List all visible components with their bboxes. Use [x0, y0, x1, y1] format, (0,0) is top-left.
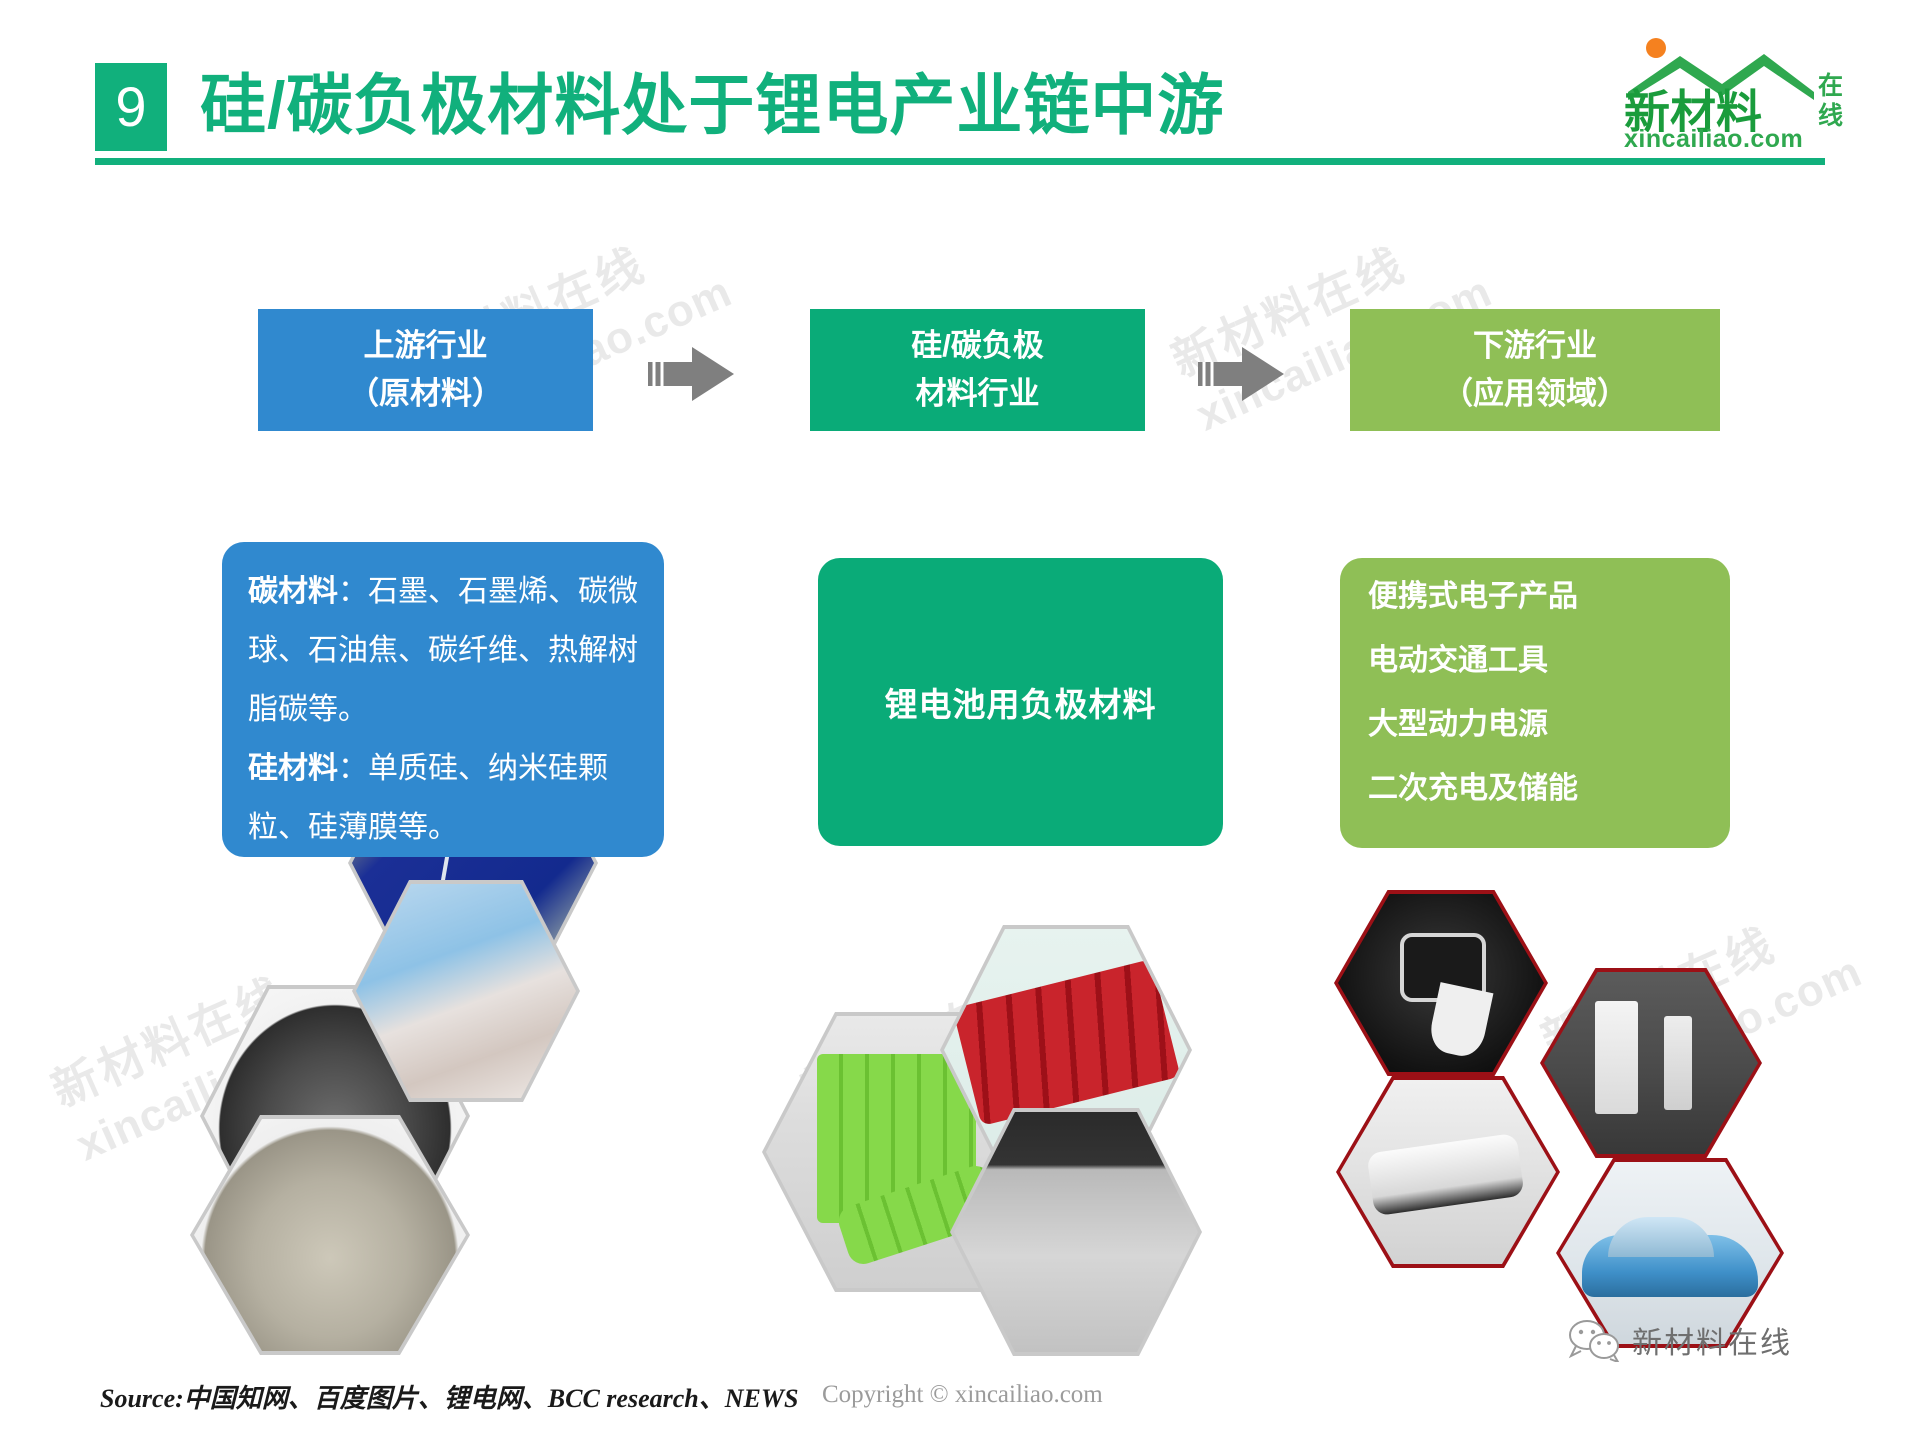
svg-text:线: 线	[1818, 101, 1843, 130]
copyright-note: Copyright © xincailiao.com	[822, 1381, 1103, 1409]
flow-down-line2: （应用领域）	[1442, 370, 1628, 418]
flow-box-downstream: 下游行业 （应用领域）	[1350, 309, 1720, 431]
application-item-3: 大型动力电源	[1368, 710, 1730, 740]
flow-mid-line1: 硅/碳负极	[911, 322, 1044, 370]
arrow-upstream-to-mid	[648, 345, 734, 403]
application-item-4: 二次充电及储能	[1368, 774, 1730, 804]
silicon-materials-label: 硅材料	[248, 752, 338, 785]
carbon-materials-label: 碳材料	[248, 575, 338, 608]
flow-mid-line2: 材料行业	[916, 370, 1040, 418]
brand-logo: 新材料 在 线 xincailiao.com	[1618, 36, 1868, 154]
slide-header: 9 硅/碳负极材料处于锂电产业链中游 新材料 在 线 xincailiao.co…	[0, 0, 1920, 190]
application-item-2: 电动交通工具	[1368, 646, 1730, 676]
photo-ev-charging-station	[1540, 968, 1762, 1158]
xincailiao-logo-icon: 新材料 在 线	[1618, 36, 1868, 132]
wechat-label: 新材料在线	[1632, 1318, 1792, 1362]
arrow-mid-to-downstream	[1198, 345, 1284, 403]
photo-grey-silicon-powder	[190, 1115, 470, 1355]
svg-text:在: 在	[1818, 72, 1843, 100]
flow-upstream-line2: （原材料）	[348, 370, 503, 418]
photo-smart-watch	[1334, 890, 1548, 1076]
header-divider	[95, 158, 1825, 165]
panel-upstream-materials: 碳材料：石墨、石墨烯、碳微球、石油焦、碳纤维、热解树脂碳等。 硅材料：单质硅、纳…	[222, 542, 664, 857]
page-title: 硅/碳负极材料处于锂电产业链中游	[200, 58, 1224, 152]
panel-midstream-product: 锂电池用负极材料	[818, 558, 1223, 846]
application-item-1: 便携式电子产品	[1368, 582, 1730, 612]
carbon-materials-paragraph: 碳材料：石墨、石墨烯、碳微球、石油焦、碳纤维、热解树脂碳等。	[248, 562, 640, 739]
wechat-icon	[1568, 1318, 1620, 1362]
slide-canvas: 新材料在线 xincailiao.com 新材料在线 xincailiao.co…	[0, 0, 1920, 1440]
flow-upstream-line1: 上游行业	[364, 322, 488, 370]
panel-downstream-applications: 便携式电子产品 电动交通工具 大型动力电源 二次充电及储能	[1340, 558, 1730, 848]
slide-number-badge: 9	[95, 63, 167, 151]
photo-silicon-gloved-hand	[352, 880, 580, 1102]
photo-lead-acid-battery	[950, 1108, 1202, 1356]
brand-url: xincailiao.com	[1624, 125, 1803, 154]
source-note: Source:中国知网、百度图片、锂电网、BCC research、NEWS	[100, 1378, 798, 1415]
photo-power-bank	[1336, 1076, 1560, 1268]
silicon-materials-paragraph: 硅材料：单质硅、纳米硅颗粒、硅薄膜等。	[248, 739, 640, 857]
flow-down-line1: 下游行业	[1473, 322, 1597, 370]
wechat-badge: 新材料在线	[1568, 1318, 1792, 1362]
midstream-product-label: 锂电池用负极材料	[885, 678, 1157, 726]
flow-box-midstream: 硅/碳负极 材料行业	[810, 309, 1145, 431]
flow-box-upstream: 上游行业 （原材料）	[258, 309, 593, 431]
